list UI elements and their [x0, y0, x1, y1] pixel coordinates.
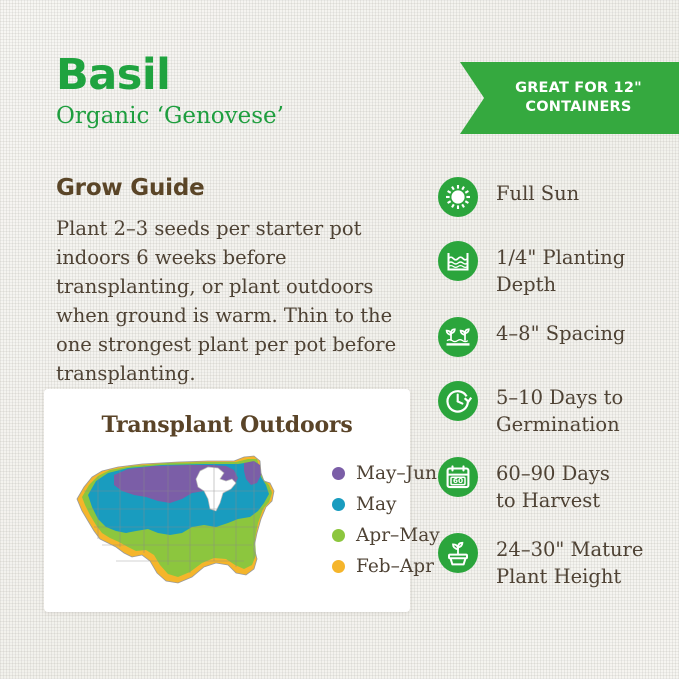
clock-icon [438, 381, 478, 421]
legend-dot-icon [332, 560, 345, 573]
spec-label: 4–8" Spacing [496, 316, 625, 347]
spec-item-harvest: 60 60–90 Days to Harvest [438, 456, 674, 514]
legend-item: Feb–Apr [332, 551, 440, 582]
container-size-banner-label: GREAT FOR 12" CONTAINERS [497, 79, 642, 117]
calendar-badge-number: 60 [453, 476, 463, 485]
legend-dot-icon [332, 529, 345, 542]
legend-dot-icon [332, 498, 345, 511]
transplant-outdoors-title: Transplant Outdoors [44, 389, 410, 438]
map-legend: May–Jun May Apr–May Feb–Apr [332, 458, 440, 582]
planting-depth-icon [438, 241, 478, 281]
spec-label: 1/4" Planting Depth [496, 240, 625, 298]
spec-item-planting-depth: 1/4" Planting Depth [438, 240, 674, 298]
grow-guide-body-text: Plant 2–3 seeds per starter pot indoors … [56, 214, 408, 388]
grow-guide-heading: Grow Guide [56, 175, 408, 201]
spec-item-full-sun: Full Sun [438, 176, 674, 222]
spec-item-germination: 5–10 Days to Germination [438, 380, 674, 438]
legend-dot-icon [332, 467, 345, 480]
usa-planting-zone-map [58, 447, 293, 597]
calendar-icon: 60 [438, 457, 478, 497]
legend-label: May [356, 494, 396, 515]
spec-label: 5–10 Days to Germination [496, 380, 623, 438]
spec-label: Full Sun [496, 176, 579, 207]
legend-item: Apr–May [332, 520, 440, 551]
page-title: Basil [56, 52, 416, 98]
grow-guide-section: Grow Guide Plant 2–3 seeds per starter p… [56, 175, 408, 388]
legend-label: Feb–Apr [356, 556, 434, 577]
potted-plant-icon [438, 533, 478, 573]
title-block: Basil Organic ‘Genovese’ [56, 52, 416, 131]
growing-specs-list: Full Sun 1/4" Planting Depth [438, 176, 674, 608]
spec-label: 60–90 Days to Harvest [496, 456, 610, 514]
spacing-icon [438, 317, 478, 357]
transplant-outdoors-card: Transplant Outdoors [44, 389, 410, 612]
plant-variety-subtitle: Organic ‘Genovese’ [56, 101, 416, 131]
spec-item-spacing: 4–8" Spacing [438, 316, 674, 362]
legend-item: May [332, 489, 440, 520]
legend-label: Apr–May [356, 525, 440, 546]
legend-label: May–Jun [356, 463, 437, 484]
legend-item: May–Jun [332, 458, 440, 489]
spec-label: 24–30" Mature Plant Height [496, 532, 643, 590]
container-size-banner: GREAT FOR 12" CONTAINERS [460, 62, 679, 134]
spec-item-mature-height: 24–30" Mature Plant Height [438, 532, 674, 590]
sun-icon [438, 177, 478, 217]
